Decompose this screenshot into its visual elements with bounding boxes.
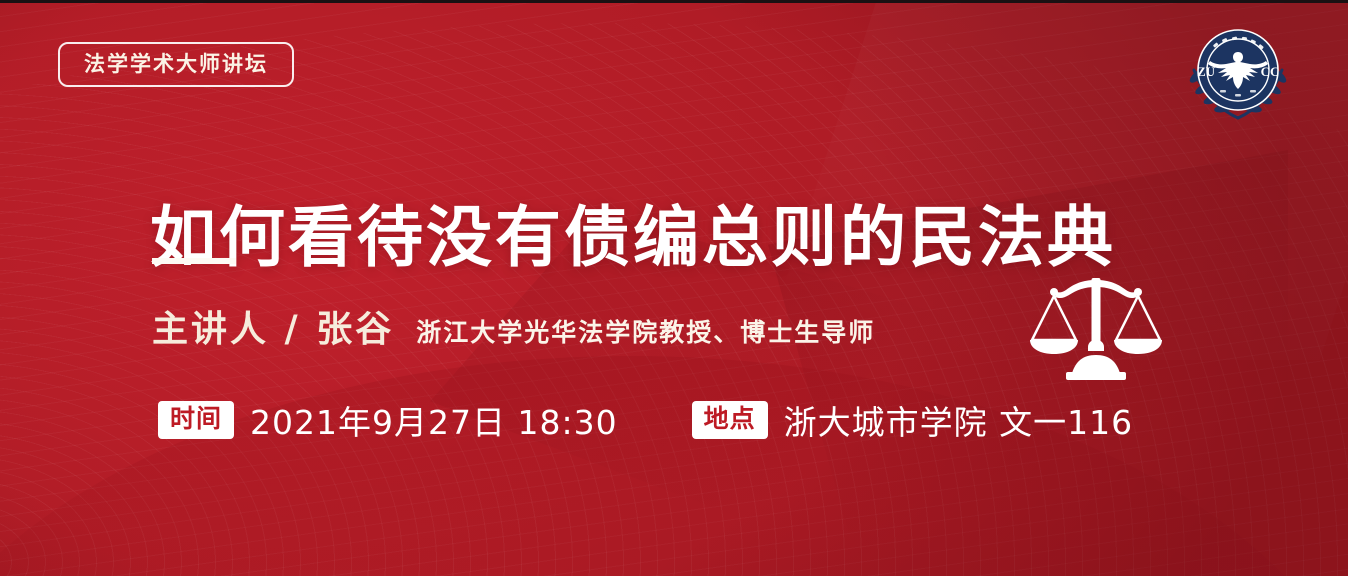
top-rule: [0, 0, 1348, 3]
time-value: 2021年9月27日 18:30: [250, 396, 618, 444]
time-label-badge: 时间: [158, 401, 234, 440]
scales-of-justice-icon: [1016, 270, 1176, 382]
speaker-affiliation: 浙江大学光华法学院教授、博士生导师: [416, 313, 875, 349]
place-value: 浙大城市学院 文一116: [784, 396, 1133, 444]
speaker-name: 主讲人 / 张谷: [152, 300, 394, 352]
page-title: 如何看待没有债编总则的民法典: [150, 202, 1116, 273]
poster-banner: 法学学术大师讲坛 如何看待没有债编总则的民法典 主讲人 / 张谷 浙江大学光华法…: [0, 0, 1348, 576]
background-wave-bottom: [0, 356, 1348, 576]
emblem-right-text: CC: [1261, 64, 1280, 79]
title-underline-rule: [152, 258, 236, 264]
university-emblem-icon: ZU CC: [1180, 18, 1296, 126]
series-badge: 法学学术大师讲坛: [58, 42, 294, 87]
event-meta-row: 时间 2021年9月27日 18:30 地点 浙大城市学院 文一116: [158, 396, 1133, 444]
speaker-line: 主讲人 / 张谷 浙江大学光华法学院教授、博士生导师: [152, 300, 875, 352]
emblem-left-text: ZU: [1197, 64, 1216, 79]
place-label-badge: 地点: [692, 401, 768, 440]
